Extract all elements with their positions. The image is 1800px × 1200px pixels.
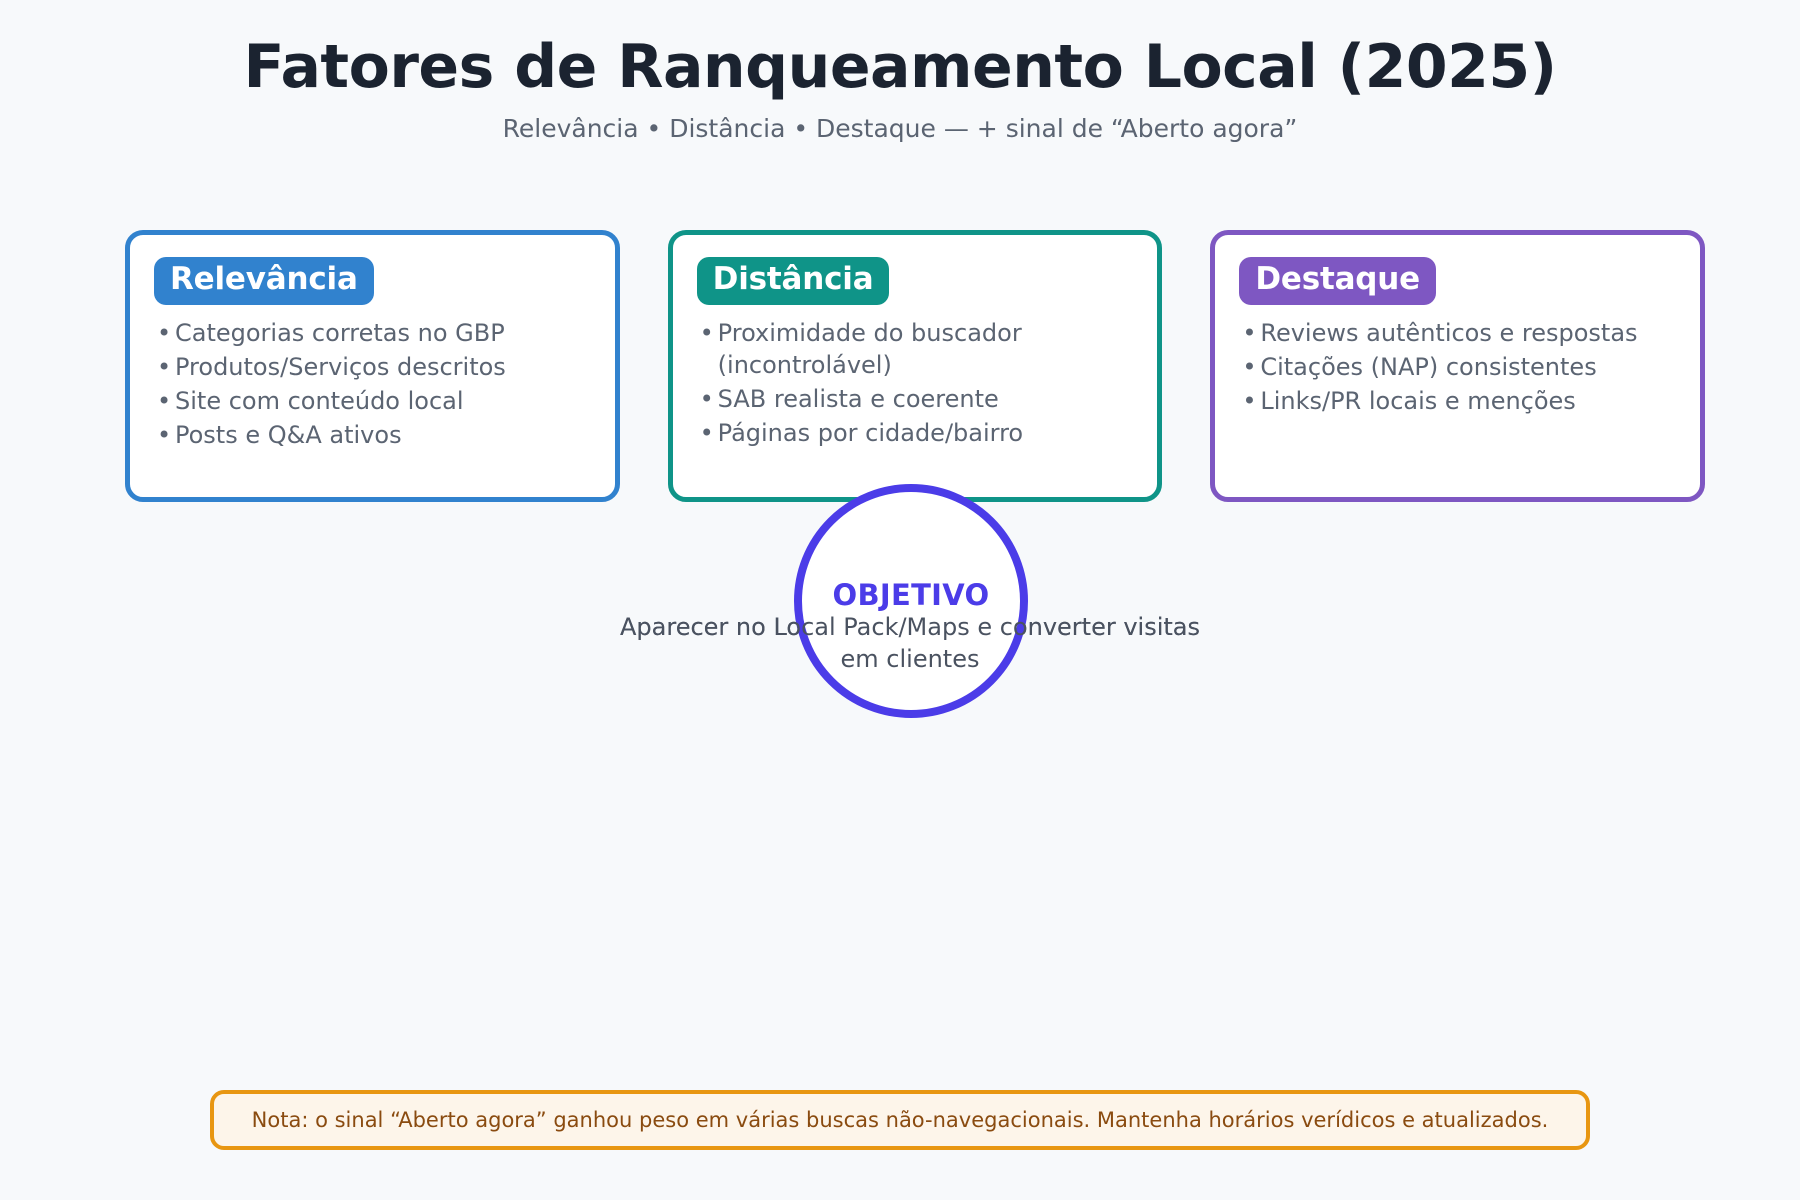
card-badge-relevancia: Relevância [154, 257, 374, 305]
list-item: Reviews autênticos e respostas [1239, 317, 1676, 349]
list-item: SAB realista e coerente [697, 383, 1134, 415]
list-item: Posts e Q&A ativos [154, 419, 591, 451]
list-item: Produtos/Serviços descritos [154, 351, 591, 383]
card-badge-distancia: Distância [697, 257, 890, 305]
card-badge-destaque: Destaque [1239, 257, 1436, 305]
factor-cards-row: Relevância Categorias corretas no GBP Pr… [125, 230, 1705, 502]
card-relevancia: Relevância Categorias corretas no GBP Pr… [125, 230, 620, 502]
list-item: Citações (NAP) consistentes [1239, 351, 1676, 383]
list-item: Links/PR locais e menções [1239, 385, 1676, 417]
list-item: Categorias corretas no GBP [154, 317, 591, 349]
card-list-distancia: Proximidade do buscador (incontrolável) … [697, 317, 1134, 450]
card-list-relevancia: Categorias corretas no GBP Produtos/Serv… [154, 317, 591, 452]
card-destaque: Destaque Reviews autênticos e respostas … [1210, 230, 1705, 502]
footer-note: Nota: o sinal “Aberto agora” ganhou peso… [210, 1090, 1590, 1150]
card-list-destaque: Reviews autênticos e respostas Citações … [1239, 317, 1676, 417]
list-item: Proximidade do buscador (incontrolável) [697, 317, 1134, 381]
card-distancia: Distância Proximidade do buscador (incon… [668, 230, 1163, 502]
page-title: Fatores de Ranqueamento Local (2025) [0, 34, 1800, 100]
list-item: Páginas por cidade/bairro [697, 417, 1134, 449]
objective-label: OBJETIVO [794, 578, 1028, 612]
diagram-canvas: Fatores de Ranqueamento Local (2025) Rel… [0, 0, 1800, 1200]
page-subtitle: Relevância • Distância • Destaque — + si… [0, 114, 1800, 144]
header: Fatores de Ranqueamento Local (2025) Rel… [0, 34, 1800, 144]
list-item: Site com conteúdo local [154, 385, 591, 417]
